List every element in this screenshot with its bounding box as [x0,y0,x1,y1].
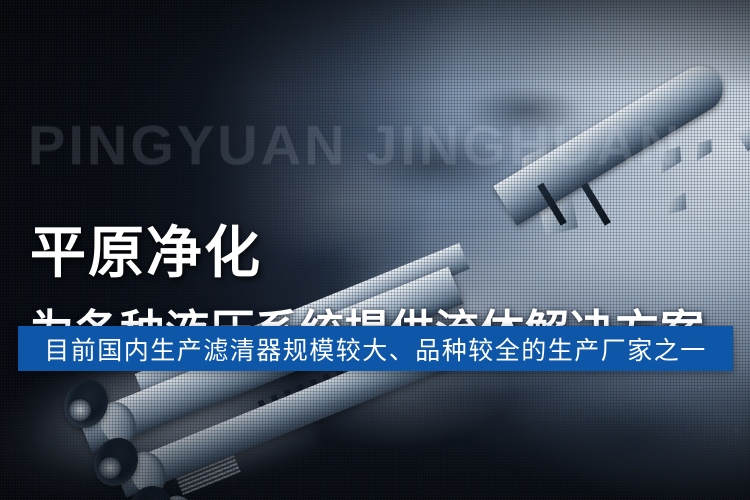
tagline-bar: 目前国内生产滤清器规模较大、品种较全的生产厂家之一 [18,326,733,371]
tagline-text: 目前国内生产滤清器规模较大、品种较全的生产厂家之一 [18,326,733,371]
hero-banner: PINGYUAN JINGHUAN 平原净化 为各种液压系统提供流体解决方案 目… [0,0,750,500]
page-title: 平原净化 [30,208,262,289]
